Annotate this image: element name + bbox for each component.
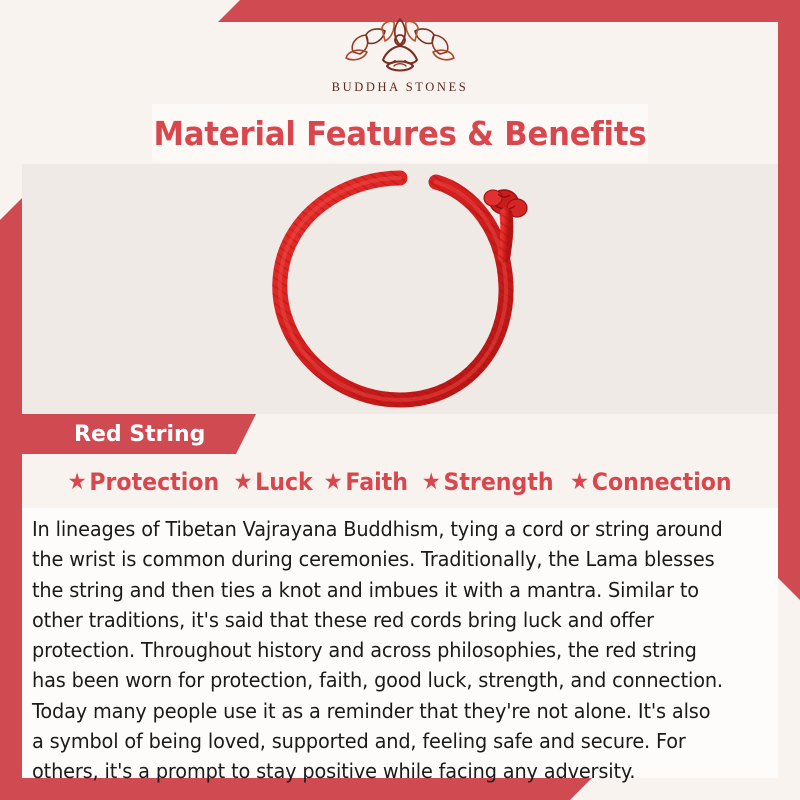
infographic-page: BUDDHA STONES Material Features & Benefi… [0, 0, 800, 800]
star-icon: ★ [233, 471, 252, 494]
product-label-banner: Red String [22, 414, 256, 454]
keyword-label: Luck [255, 468, 313, 496]
description-paragraph: In lineages of Tibetan Vajrayana Buddhis… [32, 514, 727, 787]
brand-header: BUDDHA STONES [0, 0, 800, 104]
keyword-connection: ★ Connection [570, 468, 732, 496]
keyword-label: Faith [346, 468, 409, 496]
keyword-luck: ★ Luck [233, 468, 312, 496]
keyword-protection: ★ Protection [68, 468, 220, 496]
benefit-keywords-row: ★ Protection ★ Luck ★ Faith ★ Strength ★… [22, 458, 778, 506]
brand-logo: BUDDHA STONES [332, 16, 469, 95]
red-string-bracelet-image [240, 164, 560, 414]
description-block: In lineages of Tibetan Vajrayana Buddhis… [22, 508, 778, 778]
keyword-faith: ★ Faith [324, 468, 408, 496]
product-label: Red String [74, 422, 205, 447]
title-banner: Material Features & Benefits [152, 104, 648, 162]
star-icon: ★ [324, 471, 343, 494]
keyword-label: Connection [592, 468, 732, 496]
decorative-band-left [0, 198, 22, 800]
keyword-label: Protection [90, 468, 220, 496]
brand-name: BUDDHA STONES [332, 80, 469, 95]
product-photo-area [22, 164, 778, 414]
keyword-label: Strength [443, 468, 553, 496]
star-icon: ★ [422, 471, 441, 494]
keyword-strength: ★ Strength [422, 468, 554, 496]
star-icon: ★ [68, 471, 87, 494]
star-icon: ★ [570, 471, 589, 494]
page-title: Material Features & Benefits [154, 114, 647, 153]
lotus-meditation-figure-icon [336, 16, 464, 78]
